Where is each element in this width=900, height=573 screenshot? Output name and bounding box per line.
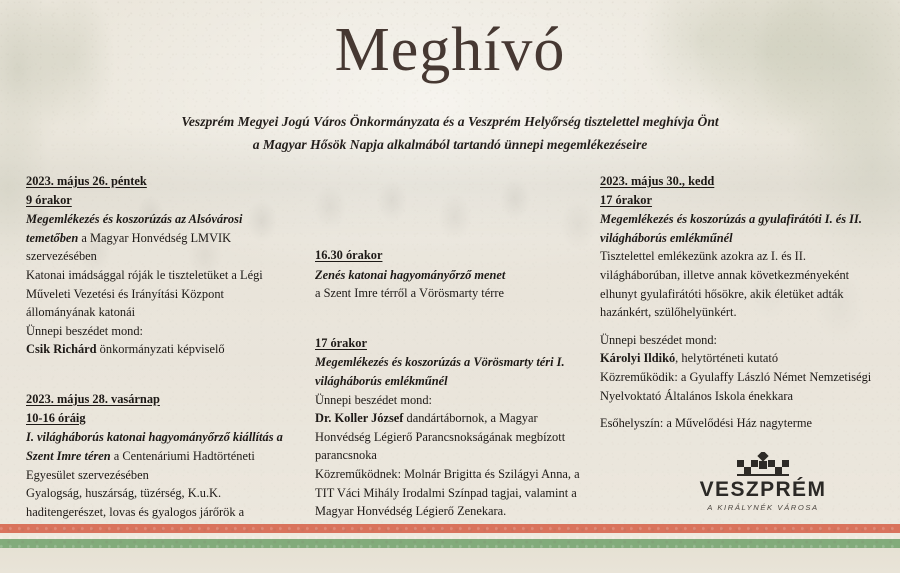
event-time: 17 órakor [600,191,878,210]
event-route: a Szent Imre térről a Vörösmarty térre [315,284,587,303]
crown-icon [723,452,803,476]
speaker-role: , helytörténeti kutató [675,351,778,365]
stripe-red [0,524,900,533]
speaker-label: Ünnepi beszédet mond: [315,391,587,410]
speaker-role: önkormányzati képviselő [97,342,225,356]
block-spacer [26,373,294,390]
event-time: 9 órakor [26,191,294,210]
footer-paper-band [0,548,900,573]
event-title: Zenés katonai hagyományőrző menet [315,266,587,285]
event-detail: Katonai imádsággal róják le tiszteletüke… [26,266,294,322]
block-spacer [315,317,587,334]
rain-venue: Esőhelyszín: a Művelődési Ház nagyterme [600,414,878,433]
event-block-may28: 2023. május 28. vasárnap 10-16 óráig I. … [26,390,294,540]
event-block-may30: 2023. május 30., kedd 17 órakor Megemlék… [600,172,878,433]
event-date: 2023. május 28. vasárnap [26,390,294,409]
speaker-name: Csik Richárd [26,342,97,356]
logo-tagline: A KIRÁLYNÉK VÁROSA [678,503,848,512]
event-date: 2023. május 30., kedd [600,172,878,191]
speaker-paragraph: Dr. Koller József dandártábornok, a Magy… [315,409,587,465]
contributors: Közreműködnek: Molnár Brigitta és Szilág… [315,465,587,521]
event-block-17: 17 órakor Megemlékezés és koszorúzás a V… [315,334,587,521]
event-title-paragraph: Megemlékezés és koszorúzás az Alsóvárosi… [26,210,294,266]
event-time: 16.30 órakor [315,246,587,265]
event-date: 2023. május 26. péntek [26,172,294,191]
speaker-paragraph: Csik Richárd önkormányzati képviselő [26,340,294,359]
event-block-1630: 16.30 órakor Zenés katonai hagyományőrző… [315,246,587,303]
contributors: Közreműködik: a Gyulaffy László Német Ne… [600,368,878,405]
speaker-label: Ünnepi beszédet mond: [26,322,294,341]
event-time: 17 órakor [315,334,587,353]
column-top-offset [315,172,587,246]
subtitle-line-2: a Magyar Hősök Napja alkalmából tartandó… [90,133,810,156]
event-detail: Tisztelettel emlékezünk azokra az I. és … [600,247,878,321]
program-column-middle: 16.30 órakor Zenés katonai hagyományőrző… [315,172,587,521]
logo-wordmark: VESZPRÉM [678,479,848,500]
speaker-name: Dr. Koller József [315,411,403,425]
subtitle-line-1: Veszprém Megyei Jogú Város Önkormányzata… [181,114,718,129]
invitation-subtitle: Veszprém Megyei Jogú Város Önkormányzata… [90,110,810,157]
event-title: Megemlékezés és koszorúzás a Vörösmarty … [315,353,587,390]
page-title: Meghívó [0,18,900,83]
speaker-paragraph: Károlyi Ildikó, helytörténeti kutató [600,349,878,368]
stripe-green [0,539,900,548]
speaker-name: Károlyi Ildikó [600,351,675,365]
event-block-may26: 2023. május 26. péntek 9 órakor Megemlék… [26,172,294,359]
event-title: Megemlékezés és koszorúzás a gyulafirátó… [600,210,878,247]
veszprem-logo: VESZPRÉM A KIRÁLYNÉK VÁROSA [678,452,848,512]
invitation-poster: Meghívó Veszprém Megyei Jogú Város Önkor… [0,0,900,573]
speaker-label: Ünnepi beszédet mond: [600,331,878,350]
program-column-left: 2023. május 26. péntek 9 órakor Megemlék… [26,172,294,540]
event-title-paragraph: I. világháborús katonai hagyományőrző ki… [26,428,294,484]
event-time: 10-16 óráig [26,409,294,428]
program-column-right: 2023. május 30., kedd 17 órakor Megemlék… [600,172,878,433]
